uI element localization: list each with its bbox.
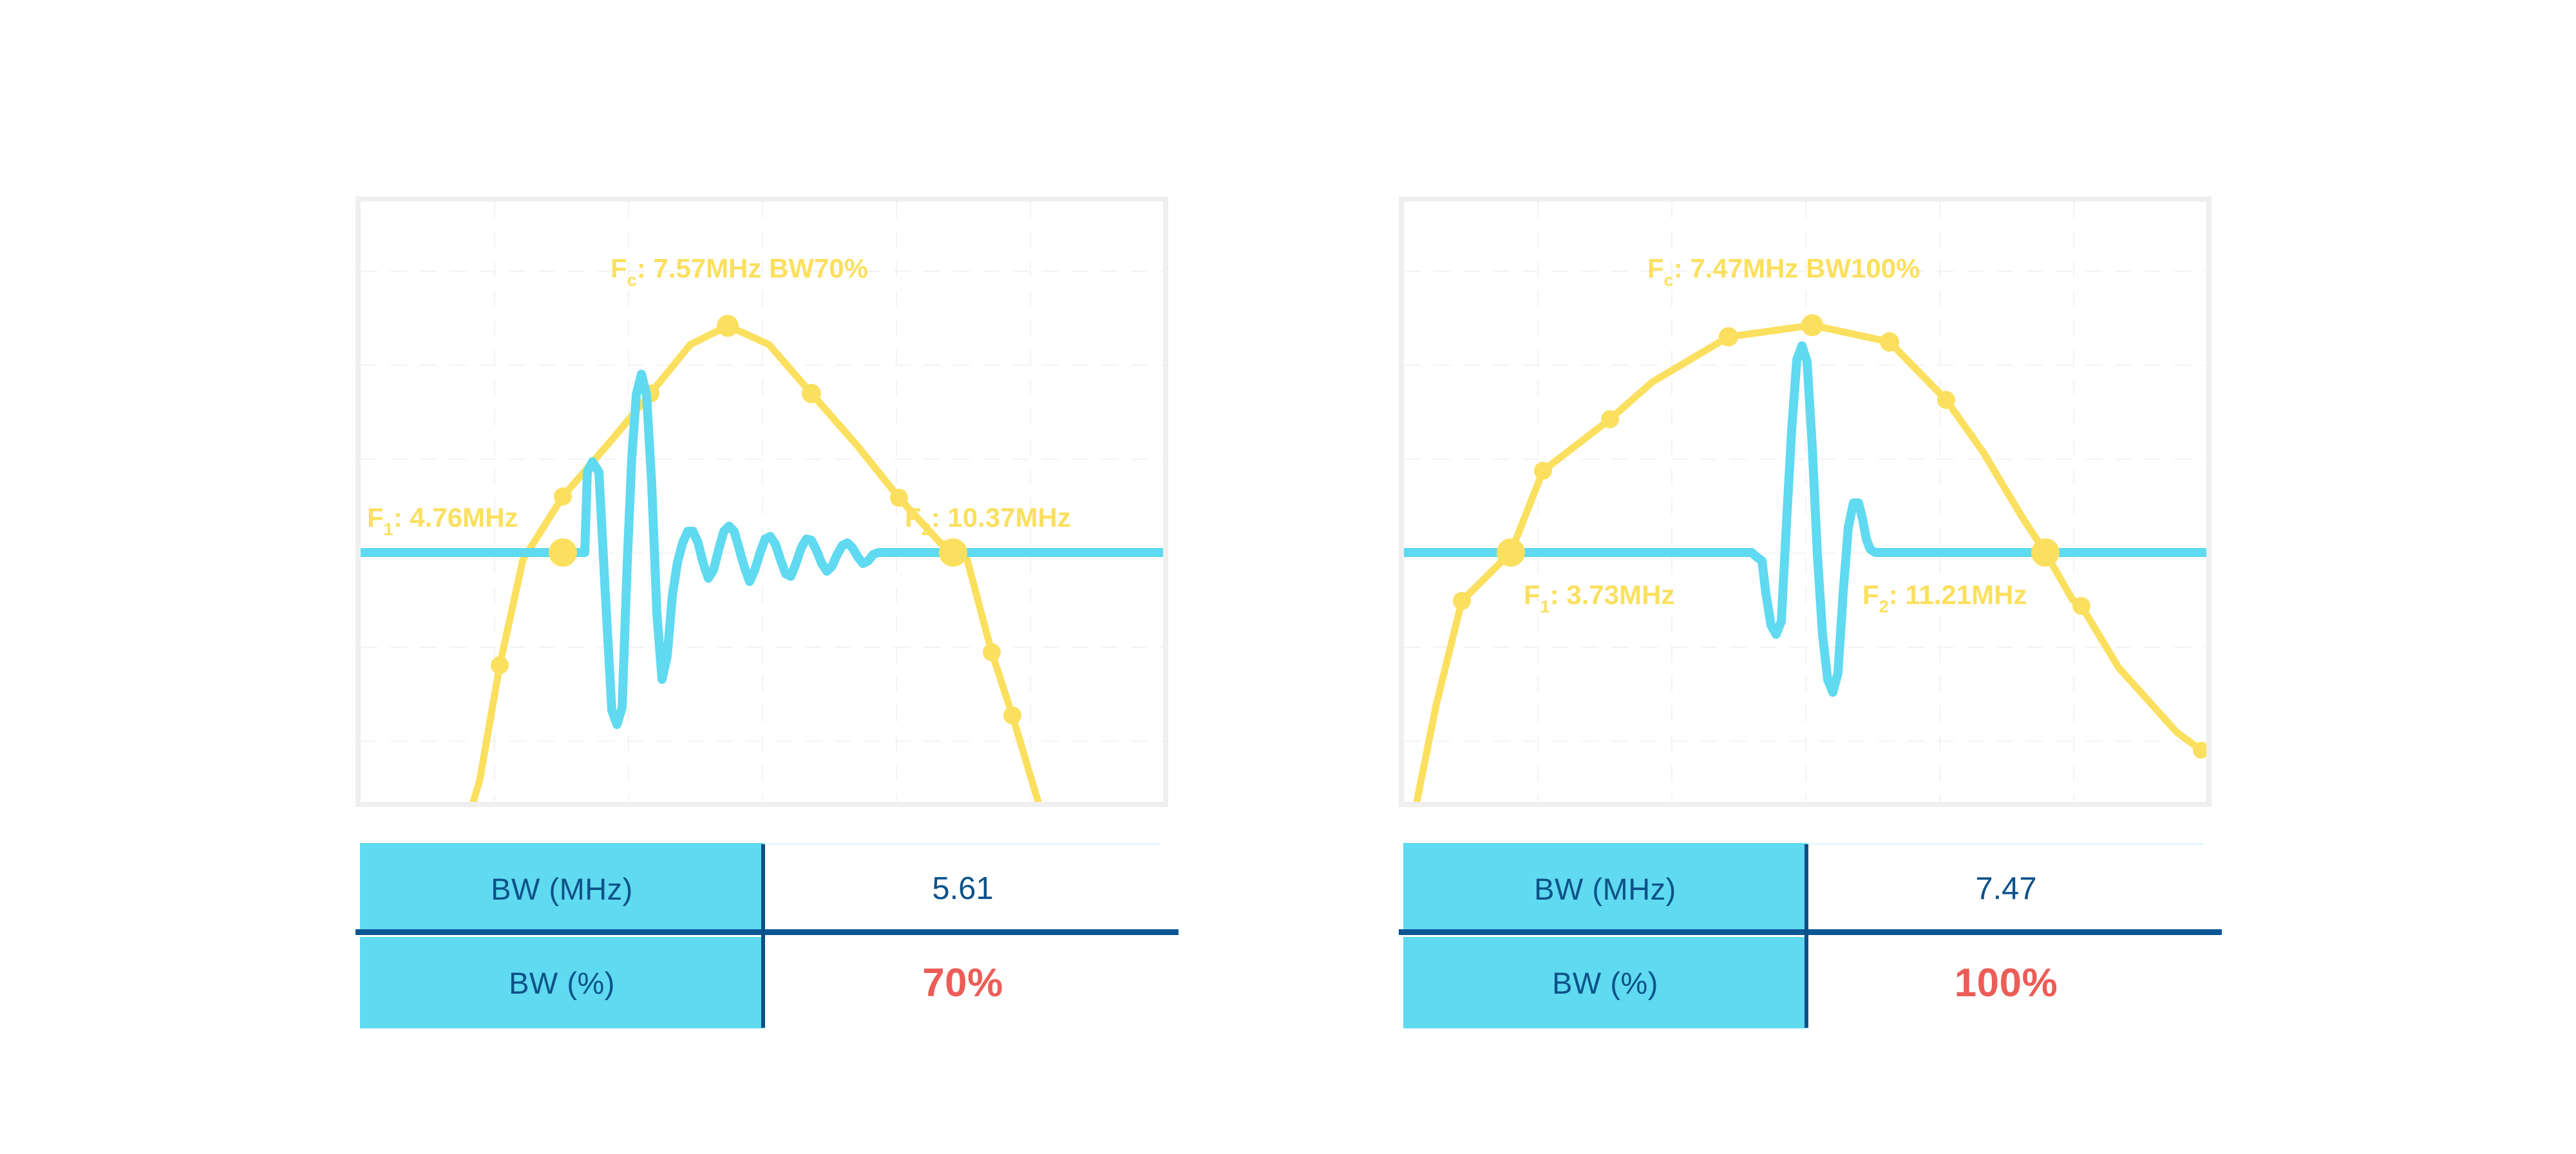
table-value-cell: 7.47: [1808, 843, 2204, 934]
table-header-label: BW (MHz): [1534, 871, 1676, 907]
table-value-cell: 5.61: [765, 843, 1160, 934]
annotation-f2: F2: 10.37MHz: [905, 502, 1071, 539]
table-header-label: BW (%): [509, 965, 615, 1001]
bandwidth-table-narrowband: BW (MHz) 5.61 BW (%) 70%: [355, 840, 1180, 1034]
table-header-cell: BW (MHz): [1403, 843, 1807, 934]
table-row: BW (MHz) 7.47: [1399, 843, 2223, 934]
table-column-divider: [761, 844, 765, 1028]
chart-frame-narrowband: Fc: 7.57MHz BW70% F1: 4.76MHz F2: 10.37M…: [355, 196, 1168, 807]
annotation-fc: Fc: 7.47MHz BW100%: [1647, 253, 1920, 290]
table-header-label: BW (MHz): [491, 871, 633, 907]
pulse-waveform: [361, 374, 1163, 724]
table-value: 7.47: [1975, 871, 2036, 907]
table-value-cell: 100%: [1808, 937, 2204, 1028]
table-value: 100%: [1955, 960, 2058, 1006]
chart-gridlines: [361, 202, 1163, 802]
chart-gridlines: [1404, 202, 2206, 802]
annotation-f1: F1: 3.73MHz: [1524, 580, 1674, 616]
marker-f2: [2031, 538, 2060, 567]
figure-canvas: Fc: 7.57MHz BW70% F1: 4.76MHz F2: 10.37M…: [0, 0, 2576, 1154]
annotation-f2: F2: 11.21MHz: [1862, 580, 2027, 616]
table-middle-rule: [355, 929, 1179, 935]
panel-narrowband: Fc: 7.57MHz BW70% F1: 4.76MHz F2: 10.37M…: [355, 196, 1168, 807]
marker-f1: [549, 538, 577, 567]
annotation-fc: Fc: 7.57MHz BW70%: [611, 253, 868, 290]
table-middle-rule: [1399, 929, 2222, 935]
table-header-label: BW (%): [1552, 965, 1658, 1001]
table-row: BW (%) 100%: [1399, 937, 2223, 1028]
table-header-cell: BW (MHz): [360, 843, 764, 934]
marker-f2: [939, 538, 967, 567]
table-value: 70%: [922, 960, 1003, 1006]
table-value-cell: 70%: [765, 937, 1160, 1028]
marker-f1: [1497, 538, 1525, 567]
table-header-cell: BW (%): [1403, 937, 1807, 1028]
spectrum-chart-broadband: Fc: 7.47MHz BW100% F1: 3.73MHz F2: 11.21…: [1404, 202, 2206, 802]
bandwidth-table-broadband: BW (MHz) 7.47 BW (%) 100%: [1399, 840, 2223, 1034]
table-column-divider: [1804, 844, 1808, 1028]
annotation-f1: F1: 4.76MHz: [367, 502, 518, 539]
spectrum-chart-narrowband: Fc: 7.57MHz BW70% F1: 4.76MHz F2: 10.37M…: [361, 202, 1163, 802]
panel-broadband: Fc: 7.47MHz BW100% F1: 3.73MHz F2: 11.21…: [1399, 196, 2211, 807]
table-row: BW (MHz) 5.61: [355, 843, 1180, 934]
chart-frame-broadband: Fc: 7.47MHz BW100% F1: 3.73MHz F2: 11.21…: [1399, 196, 2211, 807]
table-header-cell: BW (%): [360, 937, 764, 1028]
table-value: 5.61: [932, 871, 993, 907]
table-row: BW (%) 70%: [355, 937, 1180, 1028]
